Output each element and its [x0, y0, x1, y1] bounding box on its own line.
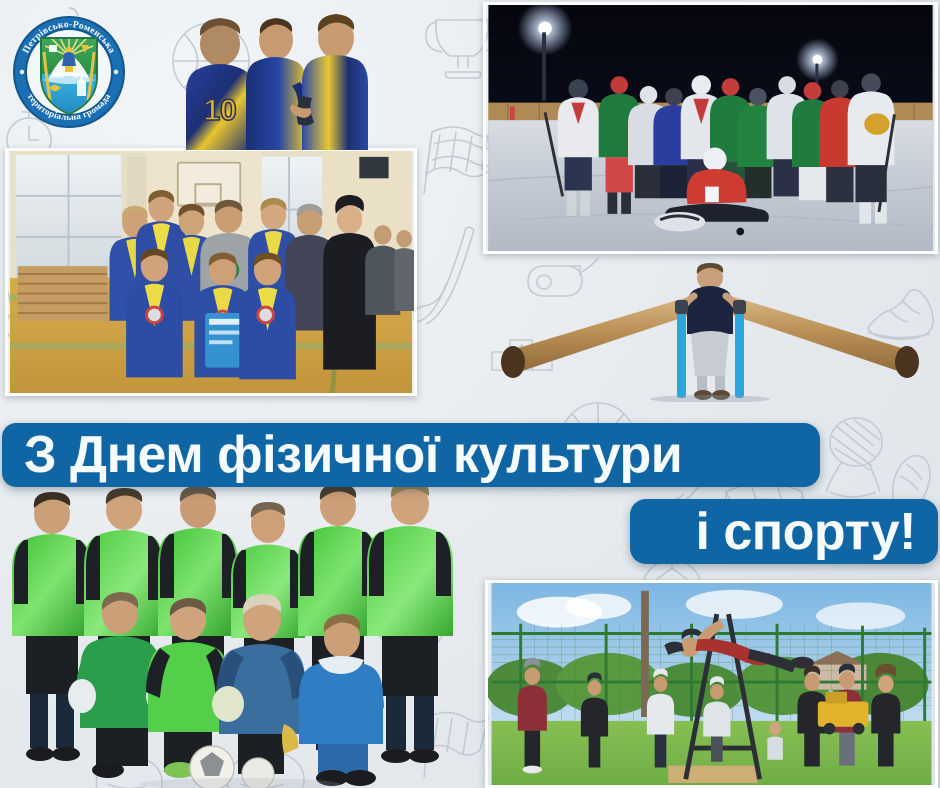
poster-canvas: 10 [0, 0, 940, 788]
headline-banner-line2: і спорту! [630, 499, 938, 564]
photo-parallel-bars-athlete [495, 262, 925, 402]
hromada-emblem: Петрівсько-Роменська територіальна грома… [8, 6, 130, 130]
photo-football-team-green [0, 478, 478, 788]
tennis-racket-doodle [812, 412, 896, 502]
photo-night-hockey-team [483, 2, 938, 254]
svg-text:ІІ: ІІ [73, 72, 78, 80]
headline-banner-line1: З Днем фізичної культури [2, 423, 820, 487]
svg-text:10: 10 [203, 94, 236, 127]
headline-text-line1: З Днем фізичної культури [24, 425, 682, 485]
hockey-stick-doodle [412, 222, 494, 334]
svg-text:ХІІ: ХІІ [55, 72, 65, 80]
headline-text-line2: і спорту! [695, 502, 916, 562]
photo-youth-athletes: 10 [150, 0, 380, 150]
photo-gym-medal-team [5, 148, 417, 396]
photo-street-workout-bar [485, 580, 938, 788]
